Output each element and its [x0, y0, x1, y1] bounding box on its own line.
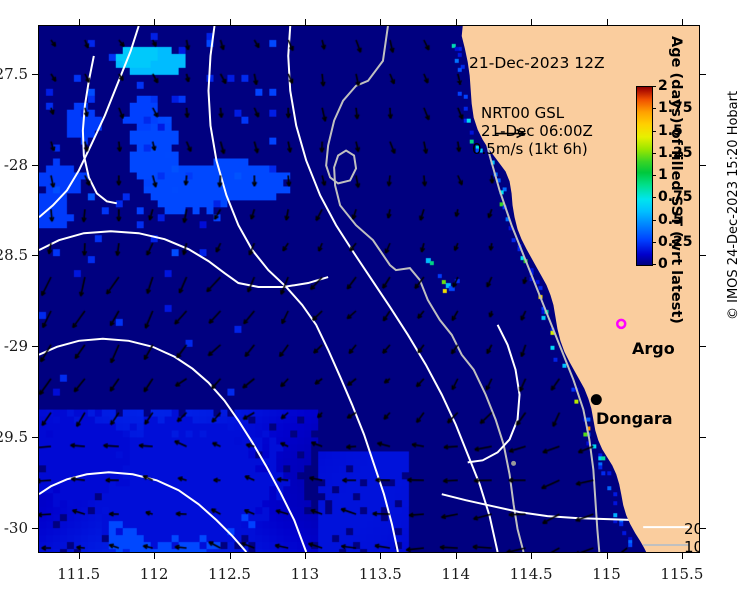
y-tick-mark — [32, 255, 38, 256]
product-label-speed: 0.5m/s (1kt 6h) — [472, 140, 588, 158]
map-title-date: 21-Dec-2023 12Z — [469, 54, 605, 72]
x-tick-mark — [305, 553, 306, 559]
x-tick-label: 114 — [441, 565, 470, 583]
x-tick-label: 115.5 — [660, 565, 703, 583]
y-tick-mark — [700, 165, 706, 166]
float-marker-icon — [511, 461, 516, 466]
x-tick-label: 115 — [592, 565, 621, 583]
x-tick-mark — [305, 19, 306, 25]
x-tick-mark — [456, 553, 457, 559]
x-tick-mark — [682, 19, 683, 25]
y-tick-label: -28.5 — [0, 246, 28, 264]
colorbar: 21.751.51.2510.750.50.250 — [636, 86, 696, 271]
colorbar-tick-mark — [652, 197, 656, 198]
dongara-marker-icon — [591, 394, 602, 405]
colorbar-tick-mark — [652, 86, 656, 87]
colorbar-gradient — [636, 86, 653, 266]
x-tick-label: 113.5 — [359, 565, 402, 583]
y-tick-mark — [700, 528, 706, 529]
x-tick-label: 112.5 — [208, 565, 251, 583]
y-tick-label: -28 — [4, 156, 28, 174]
colorbar-tick-mark — [652, 108, 656, 109]
x-tick-mark — [682, 553, 683, 559]
map-plot-area[interactable]: 21-Dec-2023 12Z NRT00 GSL 21-Dec 06:00Z … — [38, 25, 700, 553]
x-tick-mark — [79, 553, 80, 559]
colorbar-tick-mark — [652, 264, 656, 265]
x-tick-label: 111.5 — [57, 565, 100, 583]
colorbar-tick-label: 1 — [658, 167, 668, 183]
y-tick-label: -29.5 — [0, 428, 28, 446]
x-tick-mark — [230, 553, 231, 559]
credit-text: © IMOS 24-Dec-2023 15:20 Hobart — [726, 91, 740, 320]
colorbar-tick-mark — [652, 131, 656, 132]
product-label-nrt: NRT00 GSL — [481, 104, 564, 122]
colorbar-tick-label: 2 — [658, 78, 668, 94]
x-tick-mark — [380, 553, 381, 559]
x-tick-mark — [456, 19, 457, 25]
colorbar-tick-mark — [652, 153, 656, 154]
contour-label-1000m: 1000m — [684, 538, 700, 553]
y-tick-mark — [700, 346, 706, 347]
argo-marker-icon — [617, 320, 625, 328]
map-marker-overlay — [39, 26, 699, 552]
colorbar-tick-mark — [652, 220, 656, 221]
x-tick-label: 112 — [140, 565, 169, 583]
product-label-time: 21-Dec 06:00Z — [481, 122, 593, 140]
y-tick-mark — [32, 74, 38, 75]
x-tick-label: 113 — [291, 565, 320, 583]
x-tick-mark — [531, 19, 532, 25]
colorbar-title: Age (days) of filled SST (wrt latest) — [668, 36, 684, 266]
y-tick-mark — [32, 528, 38, 529]
y-tick-mark — [32, 165, 38, 166]
x-tick-mark — [607, 19, 608, 25]
legend-label-argo: Argo — [632, 339, 675, 358]
y-tick-label: -30 — [4, 519, 28, 537]
x-tick-mark — [380, 19, 381, 25]
colorbar-tick-label: 0 — [658, 256, 668, 272]
y-tick-mark — [32, 437, 38, 438]
x-tick-mark — [79, 19, 80, 25]
y-tick-mark — [700, 255, 706, 256]
y-tick-mark — [32, 346, 38, 347]
colorbar-tick-mark — [652, 175, 656, 176]
sst-age-map-figure: 21-Dec-2023 12Z NRT00 GSL 21-Dec 06:00Z … — [0, 0, 740, 592]
x-tick-mark — [154, 19, 155, 25]
x-tick-mark — [230, 19, 231, 25]
colorbar-tick-mark — [652, 242, 656, 243]
y-tick-label: -27.5 — [0, 65, 28, 83]
y-tick-mark — [700, 437, 706, 438]
y-tick-mark — [700, 74, 706, 75]
x-tick-label: 114.5 — [510, 565, 553, 583]
x-tick-mark — [531, 553, 532, 559]
contour-label-200m: 200m — [684, 520, 700, 538]
place-label-dongara: Dongara — [596, 409, 673, 428]
y-tick-label: -29 — [4, 337, 28, 355]
x-tick-mark — [607, 553, 608, 559]
x-tick-mark — [154, 553, 155, 559]
